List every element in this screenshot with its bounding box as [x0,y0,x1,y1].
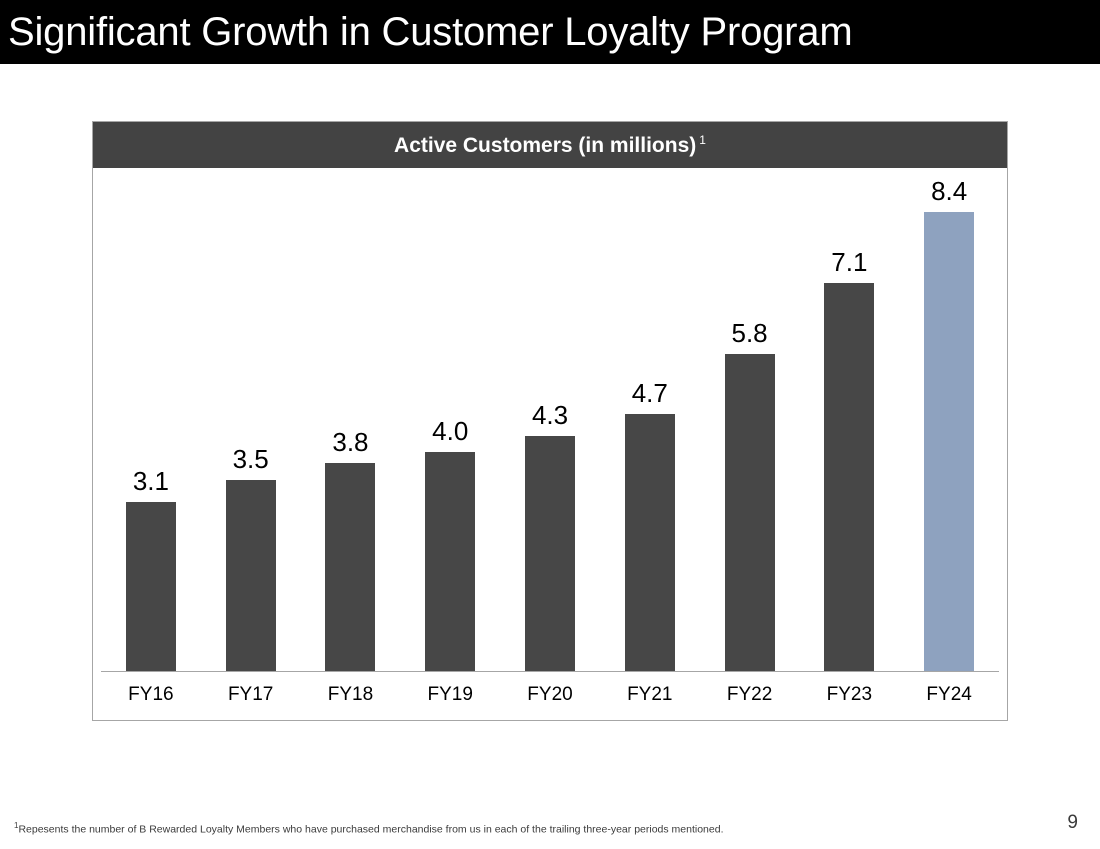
x-axis-label-fy24: FY24 [899,685,999,704]
bar-item-fy18: 3.8 [301,168,401,671]
chart-panel: Active Customers (in millions)1 3.1 3.5 … [92,121,1008,721]
bar-rect [325,463,375,671]
bar-item-fy21: 4.7 [600,168,700,671]
x-axis-label-fy18: FY18 [301,685,401,704]
bar-value-label: 8.4 [931,178,967,204]
bar-series: 3.1 3.5 3.8 4.0 4.3 4.7 [101,168,999,671]
bar-rect [824,283,874,671]
bar-rect [625,414,675,671]
x-axis-label-fy17: FY17 [201,685,301,704]
bar-value-label: 3.8 [332,429,368,455]
bar-rect [126,502,176,671]
bar-item-fy19: 4.0 [400,168,500,671]
chart-header-footnote-marker: 1 [699,133,706,147]
bar-item-fy24: 8.4 [899,168,999,671]
footnote: 1Repesents the number of B Rewarded Loya… [14,821,724,836]
bar-item-fy23: 7.1 [799,168,899,671]
bar-value-label: 5.8 [732,320,768,346]
bar-value-label: 3.1 [133,468,169,494]
chart-header-bar: Active Customers (in millions)1 [93,122,1007,168]
x-axis-labels: FY16 FY17 FY18 FY19 FY20 FY21 FY22 FY23 … [101,674,999,714]
chart-header-title-text: Active Customers (in millions) [394,134,696,157]
bar-value-label: 4.3 [532,402,568,428]
bar-rect-highlight [924,212,974,671]
bar-item-fy20: 4.3 [500,168,600,671]
x-axis-label-fy21: FY21 [600,685,700,704]
x-axis-label-fy22: FY22 [700,685,800,704]
bar-item-fy22: 5.8 [700,168,800,671]
x-axis-line [101,671,999,672]
bar-value-label: 7.1 [831,249,867,275]
bar-rect [425,452,475,671]
page-title: Significant Growth in Customer Loyalty P… [0,12,852,52]
bar-item-fy16: 3.1 [101,168,201,671]
page-number: 9 [1067,813,1078,832]
x-axis-label-fy19: FY19 [400,685,500,704]
x-axis-label-fy23: FY23 [799,685,899,704]
footnote-text: Repesents the number of B Rewarded Loyal… [18,824,723,836]
bar-value-label: 4.7 [632,380,668,406]
bar-rect [725,354,775,671]
chart-header-title: Active Customers (in millions)1 [394,134,706,156]
chart-plot-area: 3.1 3.5 3.8 4.0 4.3 4.7 [93,168,1007,720]
bar-rect [226,480,276,671]
slide-title-banner: Significant Growth in Customer Loyalty P… [0,0,1100,64]
bar-value-label: 4.0 [432,418,468,444]
x-axis-label-fy20: FY20 [500,685,600,704]
bar-value-label: 3.5 [233,446,269,472]
bar-item-fy17: 3.5 [201,168,301,671]
bar-rect [525,436,575,671]
x-axis-label-fy16: FY16 [101,685,201,704]
